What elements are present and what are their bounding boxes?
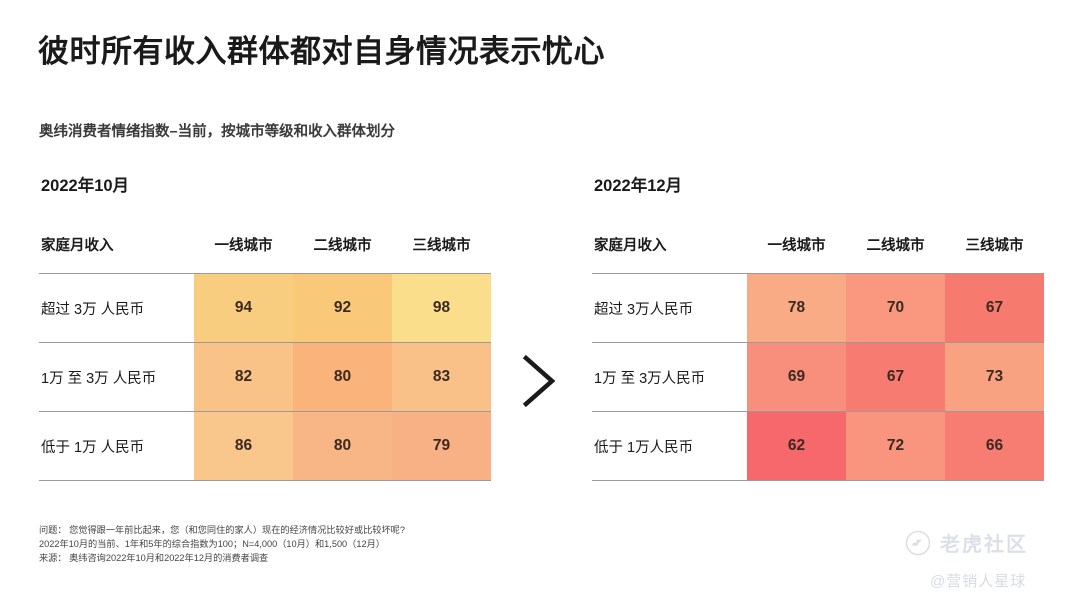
cell-value: 67 — [945, 274, 1044, 343]
cell-value: 79 — [392, 412, 491, 481]
chevron-right-icon — [516, 352, 560, 410]
table-row: 1万 至 3万人民币 69 67 73 — [592, 343, 1044, 412]
cell-value: 82 — [194, 343, 293, 412]
table-row: 超过 3万人民币 78 70 67 — [592, 274, 1044, 343]
slide-root: 彼时所有收入群体都对自身情况表示忧心 奥纬消费者情绪指数–当前，按城市等级和收入… — [0, 0, 1080, 608]
watermark-brand-text: 老虎社区 — [940, 528, 1028, 557]
cell-value: 72 — [846, 412, 945, 481]
footnote-question: 问题： 您觉得跟一年前比起来，您（和您同住的家人）现在的经济情况比较好或比较坏呢… — [39, 524, 405, 538]
cell-value: 78 — [747, 274, 846, 343]
table-row: 1万 至 3万 人民币 82 80 83 — [39, 343, 491, 412]
panel-heading-october: 2022年10月 — [41, 172, 491, 196]
footnote-basis: 2022年10月的当前、1年和5年的综合指数为100；N=4,000（10月）和… — [39, 538, 405, 552]
matrix-table-december: 家庭月收入 一线城市 二线城市 三线城市 超过 3万人民币 78 70 67 1… — [592, 234, 1044, 481]
page-title: 彼时所有收入群体都对自身情况表示忧心 — [38, 26, 605, 71]
cell-value: 73 — [945, 343, 1044, 412]
table-row: 低于 1万 人民币 86 80 79 — [39, 412, 491, 481]
cell-value: 69 — [747, 343, 846, 412]
row-label: 超过 3万人民币 — [592, 274, 747, 343]
column-header-tier1: 一线城市 — [747, 234, 846, 274]
column-header-tier3: 三线城市 — [945, 234, 1044, 274]
column-header-income: 家庭月收入 — [592, 234, 747, 274]
cell-value: 67 — [846, 343, 945, 412]
column-header-tier3: 三线城市 — [392, 234, 491, 274]
panel-december: 2022年12月 家庭月收入 一线城市 二线城市 三线城市 超过 3万人民币 7… — [592, 172, 1044, 481]
cell-value: 80 — [293, 412, 392, 481]
row-label: 低于 1万 人民币 — [39, 412, 194, 481]
footnote-source: 来源： 奥纬咨询2022年10月和2022年12月的消费者调查 — [39, 552, 405, 566]
column-header-tier2: 二线城市 — [846, 234, 945, 274]
row-label: 1万 至 3万 人民币 — [39, 343, 194, 412]
footnote: 问题： 您觉得跟一年前比起来，您（和您同住的家人）现在的经济情况比较好或比较坏呢… — [39, 524, 405, 566]
cell-value: 92 — [293, 274, 392, 343]
table-header-row: 家庭月收入 一线城市 二线城市 三线城市 — [592, 234, 1044, 274]
column-header-income: 家庭月收入 — [39, 234, 194, 274]
watermark-brand: 老虎社区 — [905, 528, 1028, 557]
tiger-logo-icon — [905, 530, 931, 556]
table-row: 超过 3万 人民币 94 92 98 — [39, 274, 491, 343]
row-label: 低于 1万人民币 — [592, 412, 747, 481]
cell-value: 62 — [747, 412, 846, 481]
column-header-tier1: 一线城市 — [194, 234, 293, 274]
cell-value: 66 — [945, 412, 1044, 481]
cell-value: 86 — [194, 412, 293, 481]
table-header-row: 家庭月收入 一线城市 二线城市 三线城市 — [39, 234, 491, 274]
table-row: 低于 1万人民币 62 72 66 — [592, 412, 1044, 481]
cell-value: 80 — [293, 343, 392, 412]
column-header-tier2: 二线城市 — [293, 234, 392, 274]
matrix-table-october: 家庭月收入 一线城市 二线城市 三线城市 超过 3万 人民币 94 92 98 … — [39, 234, 491, 481]
watermark-handle: @营销人星球 — [930, 570, 1026, 591]
cell-value: 94 — [194, 274, 293, 343]
cell-value: 70 — [846, 274, 945, 343]
cell-value: 83 — [392, 343, 491, 412]
panel-october: 2022年10月 家庭月收入 一线城市 二线城市 三线城市 超过 3万 人民币 … — [39, 172, 491, 481]
row-label: 1万 至 3万人民币 — [592, 343, 747, 412]
page-subtitle: 奥纬消费者情绪指数–当前，按城市等级和收入群体划分 — [39, 120, 395, 141]
panel-heading-december: 2022年12月 — [594, 172, 1044, 196]
cell-value: 98 — [392, 274, 491, 343]
row-label: 超过 3万 人民币 — [39, 274, 194, 343]
